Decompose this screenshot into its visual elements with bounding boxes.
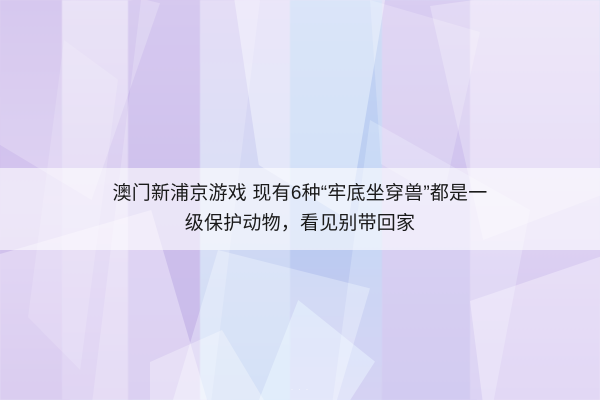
banner-title: 澳门新浦京游戏 现有6种“牢底坐穿兽”都是一 级保护动物，看见别带回家 — [0, 168, 600, 250]
banner-title-line-1: 澳门新浦京游戏 现有6种“牢底坐穿兽”都是一 — [113, 179, 488, 209]
watermark-text: · · · — [0, 384, 600, 394]
banner-title-line-2: 级保护动物，看见别带回家 — [185, 209, 415, 239]
banner-image: 澳门新浦京游戏 现有6种“牢底坐穿兽”都是一 级保护动物，看见别带回家 · · … — [0, 0, 600, 400]
